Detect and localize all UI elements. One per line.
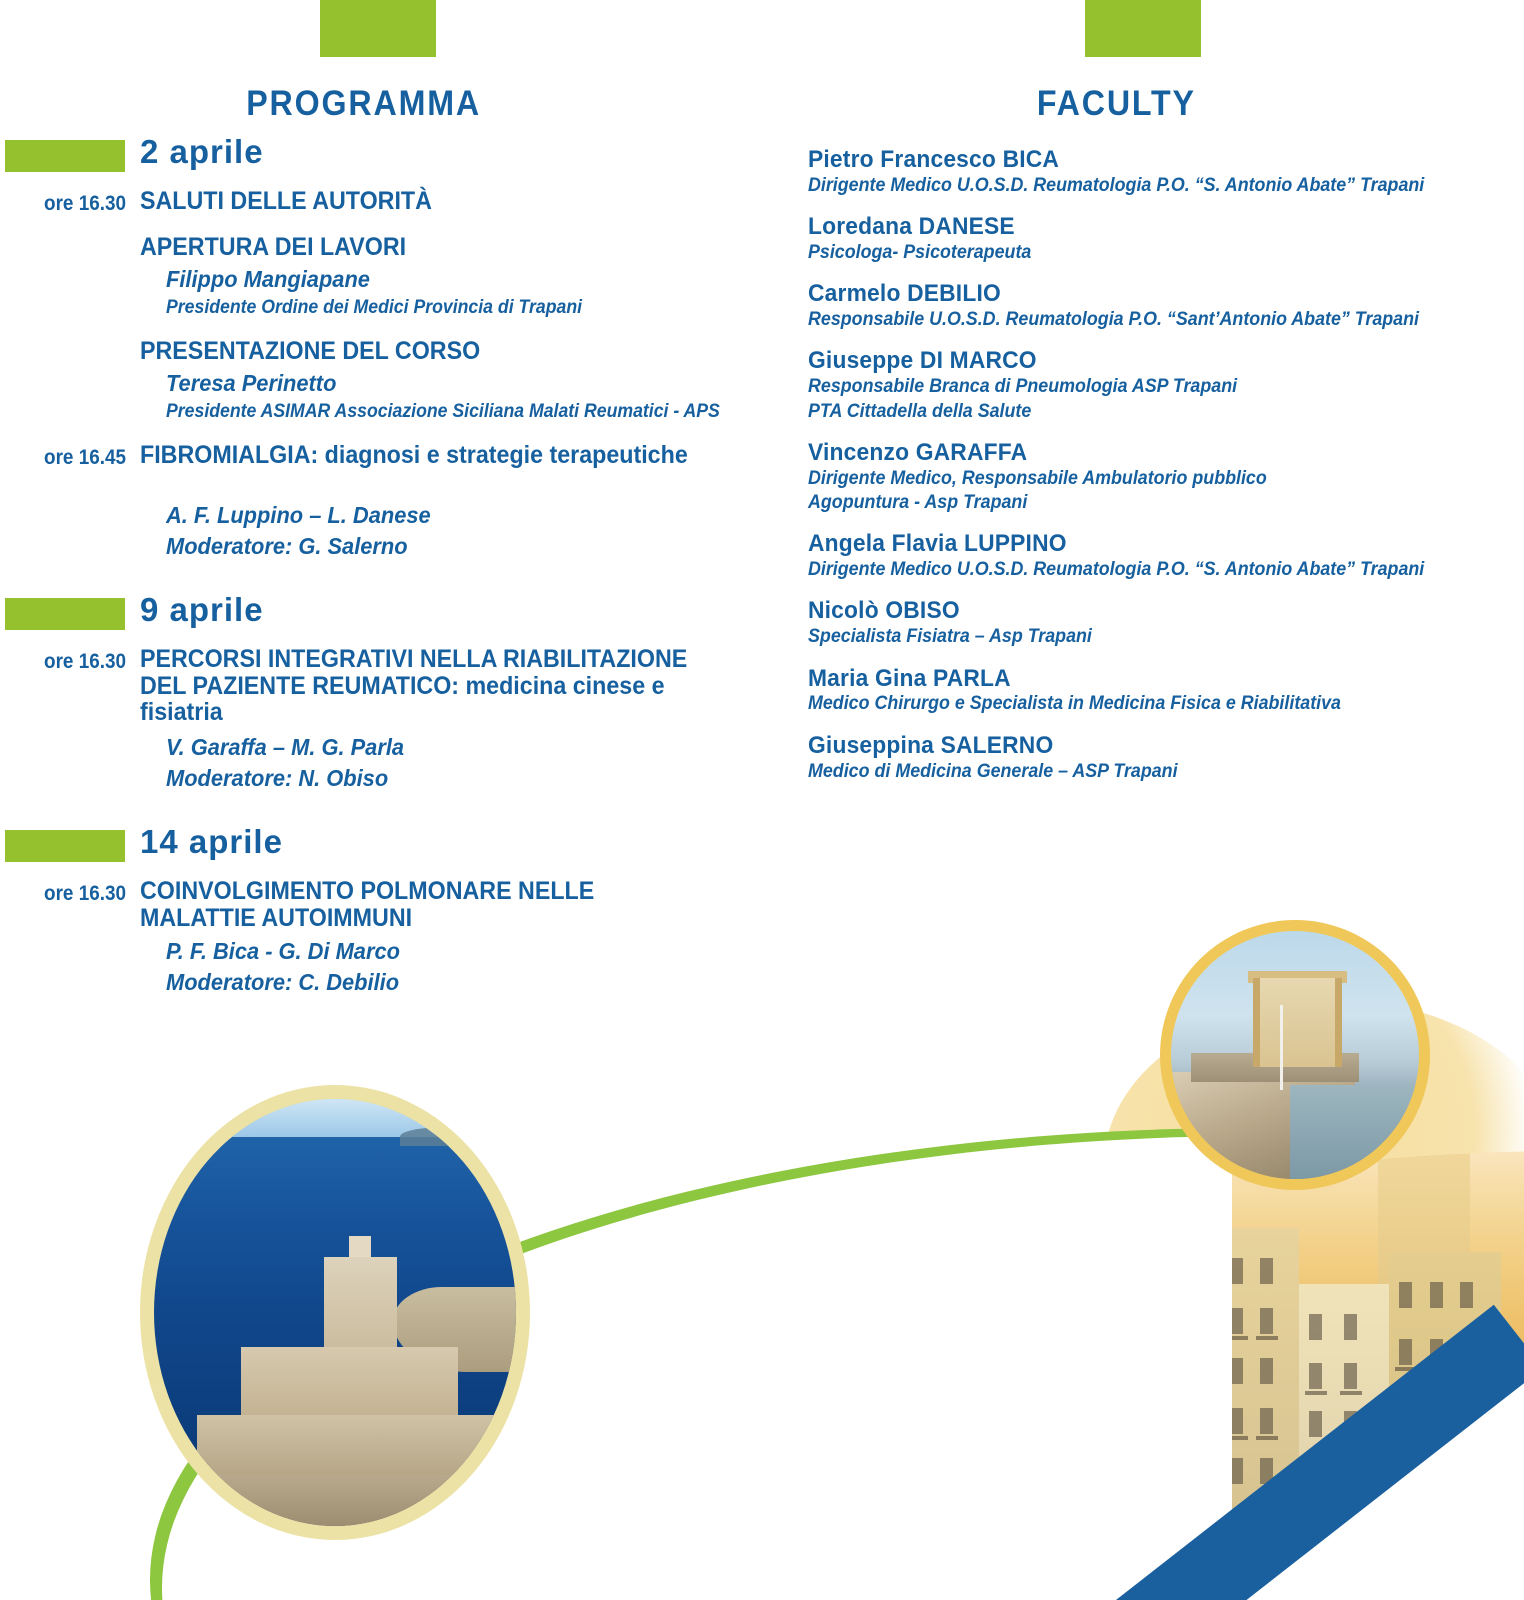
faculty-role: Dirigente Medico U.O.S.D. Reumatologia P… xyxy=(808,558,1466,582)
window xyxy=(1399,1339,1412,1365)
window xyxy=(1230,1258,1243,1284)
session-time: ore 16.30 xyxy=(16,650,126,674)
speaker-affiliation: Presidente ASIMAR Associazione Siciliana… xyxy=(166,401,720,423)
balcony xyxy=(1256,1336,1278,1340)
faculty-entry: Vincenzo GARAFFADirigente Medico, Respon… xyxy=(808,439,1508,515)
flyer-page: PROGRAMMA FACULTY 2 aprileore 16.30SALUT… xyxy=(0,0,1524,1600)
faculty-name: Loredana DANESE xyxy=(808,213,1473,241)
window xyxy=(1230,1358,1243,1384)
faculty-role: Dirigente Medico U.O.S.D. Reumatologia P… xyxy=(808,174,1466,198)
session-time: ore 16.45 xyxy=(16,446,126,470)
day-title: 2 aprile xyxy=(140,133,264,171)
window xyxy=(1230,1458,1243,1484)
castle-wall xyxy=(197,1415,501,1483)
day-green-marker xyxy=(5,140,125,172)
balcony xyxy=(1256,1436,1278,1440)
window xyxy=(1344,1363,1357,1389)
programma-heading: PROGRAMMA xyxy=(246,84,481,124)
session-speaker: Filippo Mangiapane xyxy=(166,266,370,293)
faculty-entry: Giuseppe DI MARCOResponsabile Branca di … xyxy=(808,347,1508,423)
session-title: PERCORSI INTEGRATIVI NELLA RIABILITAZION… xyxy=(140,646,698,726)
faculty-entry: Giuseppina SALERNOMedico di Medicina Gen… xyxy=(808,732,1508,784)
window xyxy=(1460,1282,1473,1308)
faculty-name: Nicolò OBISO xyxy=(808,597,1473,625)
window xyxy=(1260,1408,1273,1434)
faculty-role: Specialista Fisiatra – Asp Trapani xyxy=(808,625,1466,649)
session-title: APERTURA DEI LAVORI xyxy=(140,234,698,261)
window xyxy=(1309,1363,1322,1389)
faculty-name: Pietro Francesco BICA xyxy=(808,146,1473,174)
faculty-role: Medico Chirurgo e Specialista in Medicin… xyxy=(808,692,1466,716)
faculty-name: Vincenzo GARAFFA xyxy=(808,439,1473,467)
faculty-name: Giuseppe DI MARCO xyxy=(808,347,1473,375)
lamp-post xyxy=(1280,1005,1283,1089)
balcony xyxy=(1305,1391,1327,1395)
faculty-role: PTA Cittadella della Salute xyxy=(808,400,1466,424)
faculty-entry: Maria Gina PARLAMedico Chirurgo e Specia… xyxy=(808,665,1508,717)
distant-island xyxy=(400,1127,494,1146)
session-speaker: Teresa Perinetto xyxy=(166,370,336,397)
window xyxy=(1230,1408,1243,1434)
ligny-tower-photo xyxy=(1171,931,1419,1179)
window xyxy=(1309,1411,1322,1437)
window xyxy=(1309,1314,1322,1340)
faculty-role: Psicologa- Psicoterapeuta xyxy=(808,241,1466,265)
window xyxy=(1260,1358,1273,1384)
faculty-entry: Angela Flavia LUPPINODirigente Medico U.… xyxy=(808,530,1508,582)
session-time: ore 16.30 xyxy=(16,192,126,216)
faculty-name: Carmelo DEBILIO xyxy=(808,280,1473,308)
day-green-marker xyxy=(5,598,125,630)
session-title: PRESENTAZIONE DEL CORSO xyxy=(140,338,698,365)
faculty-role: Dirigente Medico, Responsabile Ambulator… xyxy=(808,467,1466,491)
session-title: FIBROMIALGIA: diagnosi e strategie terap… xyxy=(140,442,698,469)
colombaia-castle-photo xyxy=(154,1099,516,1526)
day-title: 14 aprile xyxy=(140,823,283,861)
window xyxy=(1399,1282,1412,1308)
colombaia-photo-frame xyxy=(140,1085,530,1540)
faculty-name: Angela Flavia LUPPINO xyxy=(808,530,1473,558)
session-speaker: Moderatore: N. Obiso xyxy=(166,765,388,792)
window xyxy=(1260,1258,1273,1284)
session-speaker: Moderatore: G. Salerno xyxy=(166,533,408,560)
green-accent-block-left xyxy=(320,0,436,57)
faculty-entry: Carmelo DEBILIOResponsabile U.O.S.D. Reu… xyxy=(808,280,1508,332)
faculty-role: Responsabile U.O.S.D. Reumatologia P.O. … xyxy=(808,308,1466,332)
faculty-entry: Nicolò OBISOSpecialista Fisiatra – Asp T… xyxy=(808,597,1508,649)
faculty-role: Responsabile Branca di Pneumologia ASP T… xyxy=(808,375,1466,399)
bottom-artwork xyxy=(0,900,1524,1600)
faculty-role: Medico di Medicina Generale – ASP Trapan… xyxy=(808,760,1466,784)
dome-lantern xyxy=(668,1078,706,1130)
castle-rocks xyxy=(154,1475,516,1526)
faculty-heading: FACULTY xyxy=(1037,84,1196,124)
green-accent-block-right xyxy=(1085,0,1201,57)
day-green-marker xyxy=(5,830,125,862)
session-title: SALUTI DELLE AUTORITÀ xyxy=(140,188,698,215)
ligny-photo-frame xyxy=(1160,920,1430,1190)
window xyxy=(1430,1282,1443,1308)
window xyxy=(1344,1314,1357,1340)
speaker-affiliation: Presidente Ordine dei Medici Provincia d… xyxy=(166,297,582,319)
balcony xyxy=(1340,1391,1362,1395)
faculty-name: Giuseppina SALERNO xyxy=(808,732,1473,760)
faculty-name: Maria Gina PARLA xyxy=(808,665,1473,693)
day-title: 9 aprile xyxy=(140,591,264,629)
window xyxy=(1260,1308,1273,1334)
faculty-entry: Loredana DANESEPsicologa- Psicoterapeuta xyxy=(808,213,1508,265)
faculty-entry: Pietro Francesco BICADirigente Medico U.… xyxy=(808,146,1508,198)
ligny-tower xyxy=(1253,978,1342,1067)
faculty-role: Agopuntura - Asp Trapani xyxy=(808,491,1466,515)
faculty-column: Pietro Francesco BICADirigente Medico U.… xyxy=(808,146,1508,799)
session-speaker: A. F. Luppino – L. Danese xyxy=(166,502,431,529)
window xyxy=(1230,1308,1243,1334)
sea xyxy=(1290,1085,1419,1179)
session-speaker: V. Garaffa – M. G. Parla xyxy=(166,734,404,761)
